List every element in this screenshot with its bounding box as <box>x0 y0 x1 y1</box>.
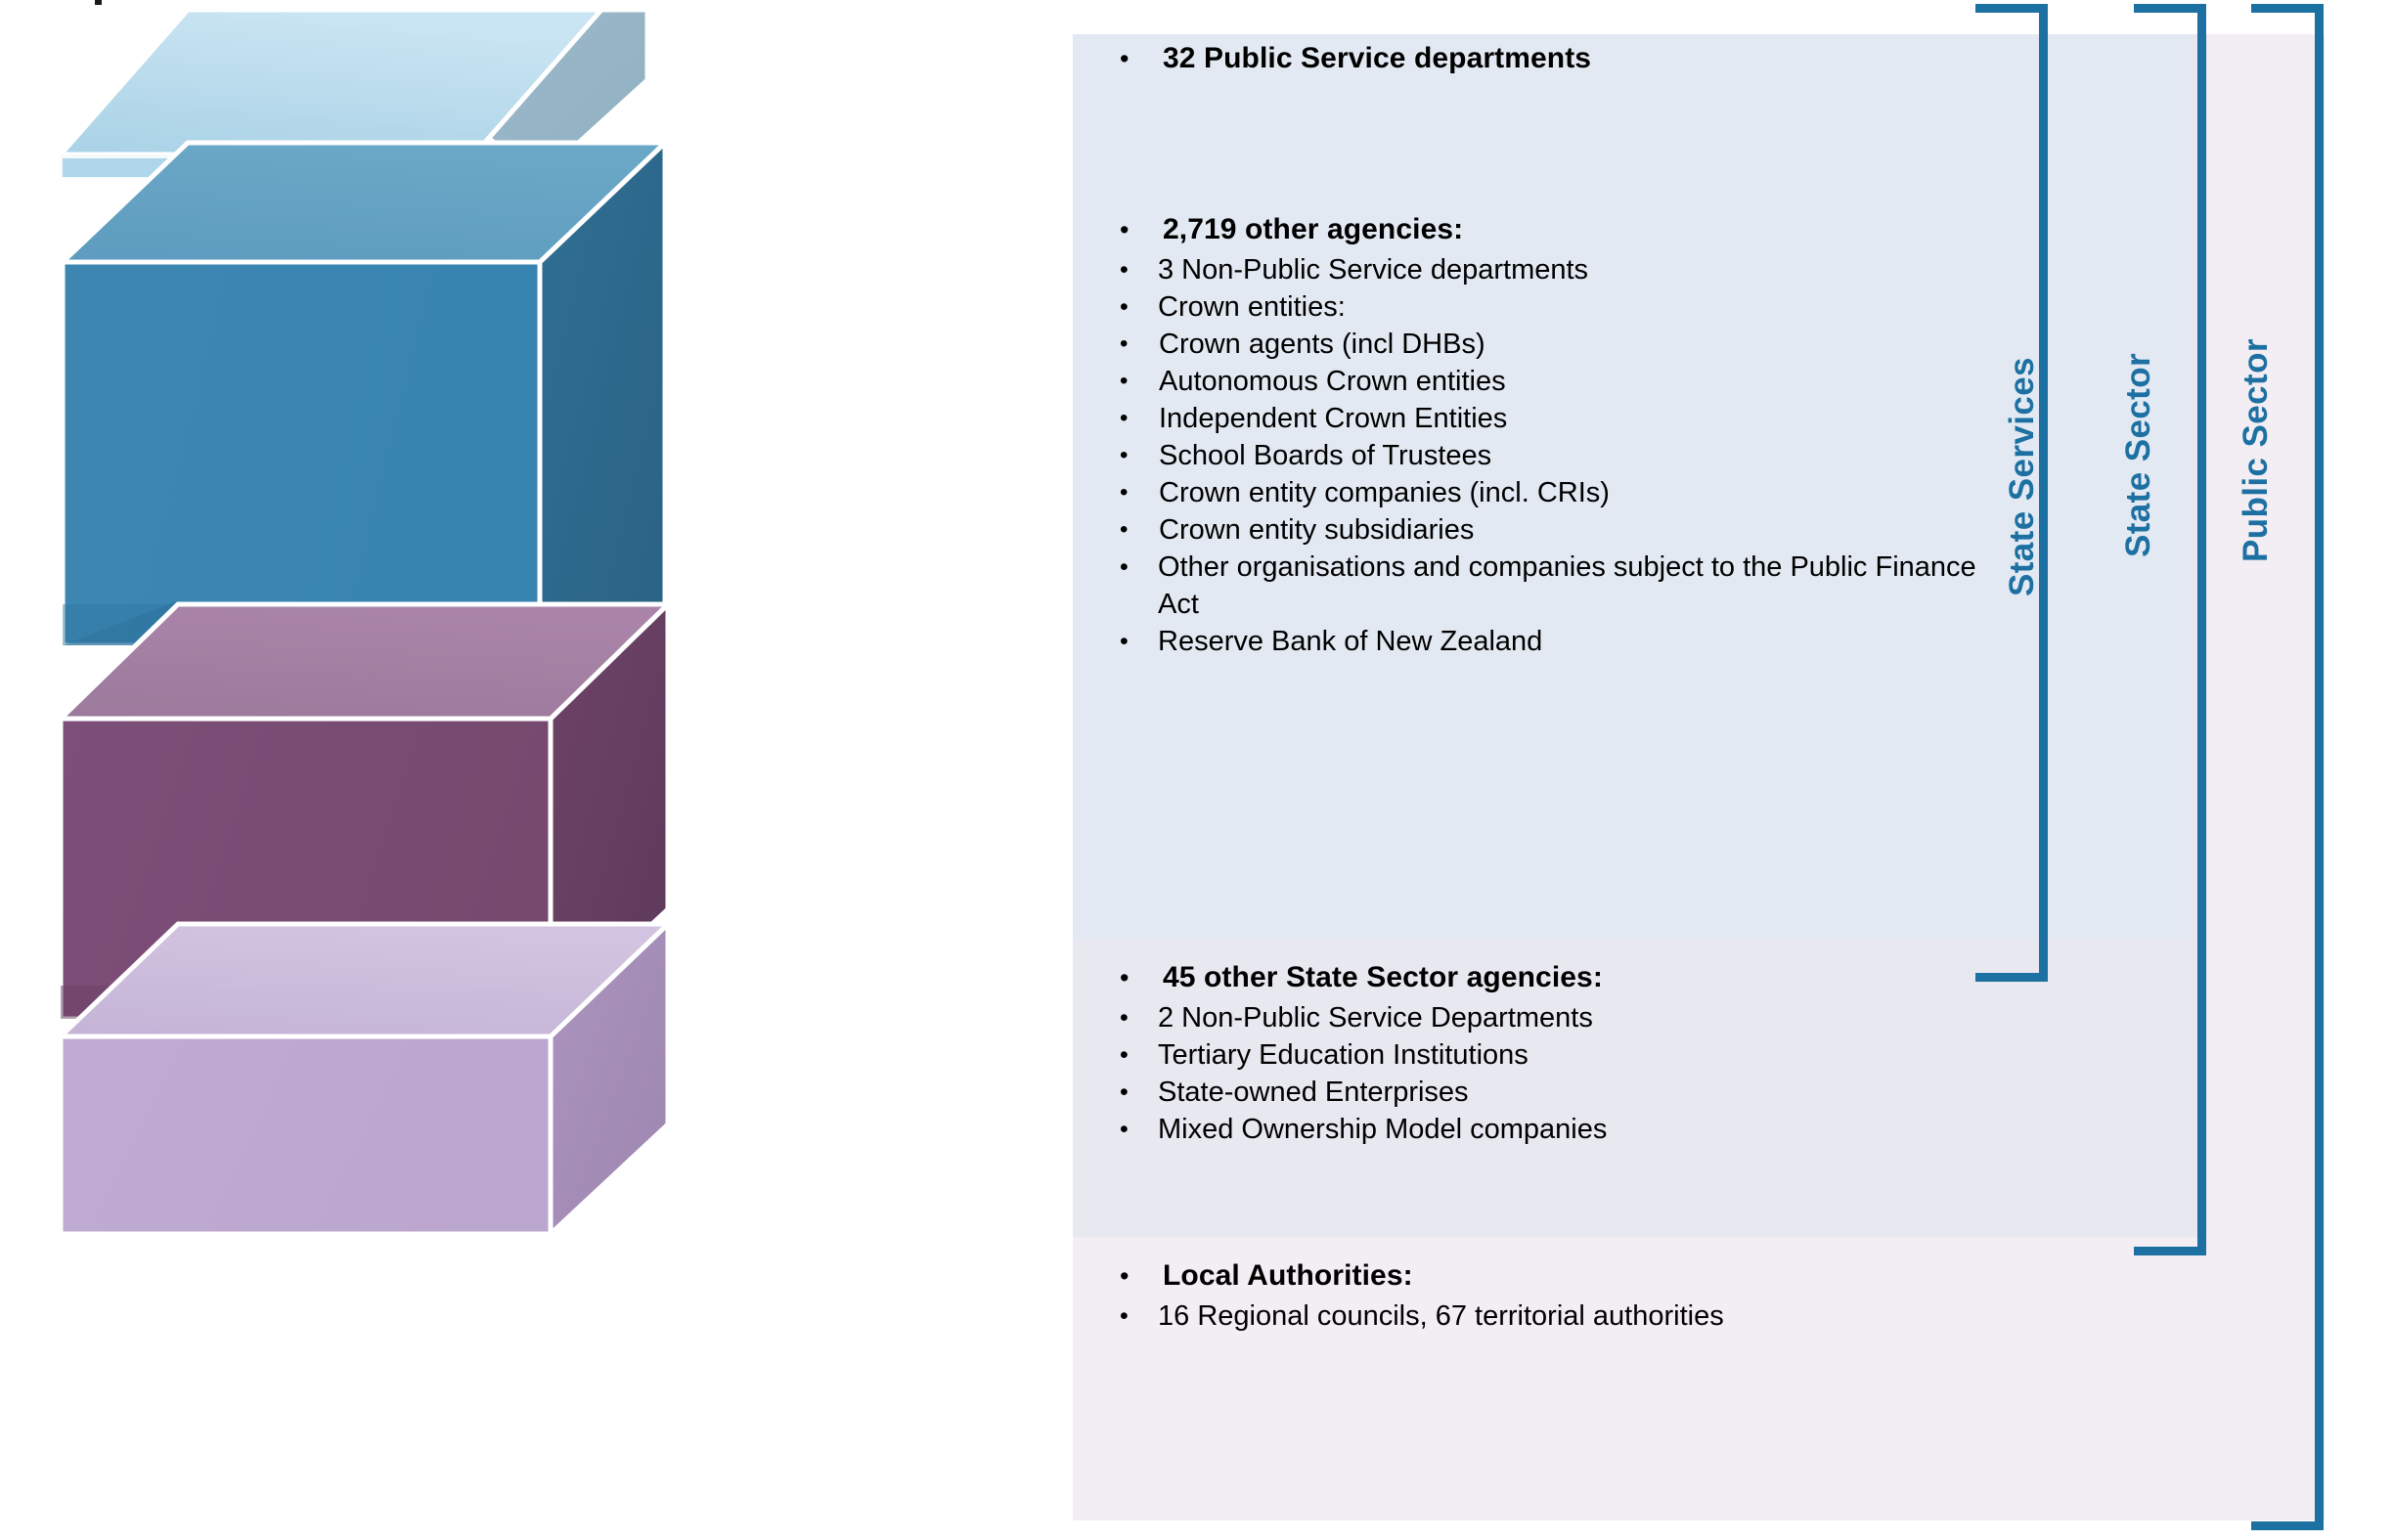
layer-local-authorities <box>61 924 668 1234</box>
bullet-icon: • <box>1120 288 1158 326</box>
list-item: • Tertiary Education Institutions <box>1120 1036 2000 1074</box>
content-state-services-departments: • 32 Public Service departments <box>1120 39 1980 80</box>
list-item-label: 2,719 other agencies: <box>1163 210 2000 249</box>
bullet-icon: • <box>1120 326 1159 363</box>
list-item: • Reserve Bank of New Zealand <box>1120 623 2000 660</box>
list-item-label: 3 Non-Public Service departments <box>1158 251 2000 288</box>
bullet-icon: • <box>1120 1111 1158 1148</box>
list-item: • 45 other State Sector agencies: <box>1120 958 2000 997</box>
list-item-label: Other organisations and companies subjec… <box>1158 549 2000 623</box>
bullet-icon: • <box>1120 251 1158 288</box>
list-item-label: Local Authorities: <box>1163 1256 1980 1296</box>
list-item: • Local Authorities: <box>1120 1256 1980 1296</box>
content-state-sector-agencies: • 45 other State Sector agencies: • 2 No… <box>1120 958 2000 1148</box>
panel-strip-public-sector <box>2207 34 2325 1237</box>
list-item: • 3 Non-Public Service departments <box>1120 251 2000 288</box>
list-item-label: Crown entity companies (incl. CRIs) <box>1159 474 2000 511</box>
bullet-icon: • <box>1120 1256 1163 1296</box>
list-item: • Crown entities: <box>1120 288 2000 326</box>
bullet-icon: • <box>1120 363 1159 400</box>
list-item: • State-owned Enterprises <box>1120 1074 2000 1111</box>
list-item: • 2,719 other agencies: <box>1120 210 2000 249</box>
list-item: • Crown entity companies (incl. CRIs) <box>1120 474 2000 511</box>
list-item: • Mixed Ownership Model companies <box>1120 1111 2000 1148</box>
list-item-label: Independent Crown Entities <box>1159 400 2000 437</box>
bracket-top-arm <box>2134 4 2206 13</box>
bullet-icon: • <box>1120 999 1158 1036</box>
list-item-label: School Boards of Trustees <box>1159 437 2000 474</box>
layered-stack-illustration <box>0 0 1076 1540</box>
bullet-icon: • <box>1120 474 1159 511</box>
list-item-label: 32 Public Service departments <box>1163 39 1980 78</box>
bullet-icon: • <box>1120 1036 1158 1074</box>
layer-other-agencies <box>63 143 665 645</box>
list-item-label: Crown agents (incl DHBs) <box>1159 326 2000 363</box>
bracket-top-arm <box>2251 4 2324 13</box>
bullet-icon: • <box>1120 400 1159 437</box>
bullet-icon: • <box>1120 958 1163 997</box>
bullet-icon: • <box>1120 39 1163 78</box>
bracket-label-public-sector: Public Sector <box>2237 338 2276 562</box>
bullet-icon: • <box>1120 511 1159 549</box>
bullet-icon: • <box>1120 549 1158 586</box>
bullet-icon: • <box>1120 210 1163 249</box>
bracket-top-arm <box>1975 4 2048 13</box>
list-item-label: Autonomous Crown entities <box>1159 363 2000 400</box>
bullet-icon: • <box>1120 623 1158 660</box>
bracket-bottom-arm <box>2134 1247 2206 1255</box>
list-item-label: Mixed Ownership Model companies <box>1158 1111 2000 1148</box>
bracket-spine <box>2315 4 2324 1530</box>
bracket-spine <box>2197 4 2206 1255</box>
diagram-canvas: • 32 Public Service departments • 2,719 … <box>0 0 2393 1540</box>
bullet-icon: • <box>1120 437 1159 474</box>
bullet-icon: • <box>1120 1298 1158 1335</box>
list-item-label: State-owned Enterprises <box>1158 1074 2000 1111</box>
list-item-label: Reserve Bank of New Zealand <box>1158 623 2000 660</box>
list-item: • 2 Non-Public Service Departments <box>1120 999 2000 1036</box>
list-item-label: 45 other State Sector agencies: <box>1163 958 2000 997</box>
list-item: • School Boards of Trustees <box>1120 437 2000 474</box>
list-item: • Crown entity subsidiaries <box>1120 511 2000 549</box>
list-item: • 32 Public Service departments <box>1120 39 1980 78</box>
list-item: • 16 Regional councils, 67 territorial a… <box>1120 1298 1980 1335</box>
list-item-label: Crown entity subsidiaries <box>1159 511 2000 549</box>
bracket-label-state-sector: State Sector <box>2119 353 2158 557</box>
bracket-label-state-services: State Services <box>2003 357 2042 596</box>
list-item-label: 2 Non-Public Service Departments <box>1158 999 2000 1036</box>
list-item: • Independent Crown Entities <box>1120 400 2000 437</box>
bracket-bottom-arm <box>2251 1521 2324 1530</box>
list-item: • Crown agents (incl DHBs) <box>1120 326 2000 363</box>
content-other-agencies: • 2,719 other agencies: • 3 Non-Public S… <box>1120 210 2000 660</box>
list-item-label: Tertiary Education Institutions <box>1158 1036 2000 1074</box>
list-item-label: Crown entities: <box>1158 288 2000 326</box>
list-item: • Other organisations and companies subj… <box>1120 549 2000 623</box>
bracket-bottom-arm <box>1975 973 2048 982</box>
content-local-authorities: • Local Authorities: • 16 Regional counc… <box>1120 1256 1980 1335</box>
bullet-icon: • <box>1120 1074 1158 1111</box>
list-item: • Autonomous Crown entities <box>1120 363 2000 400</box>
list-item-label: 16 Regional councils, 67 territorial aut… <box>1158 1298 1980 1335</box>
